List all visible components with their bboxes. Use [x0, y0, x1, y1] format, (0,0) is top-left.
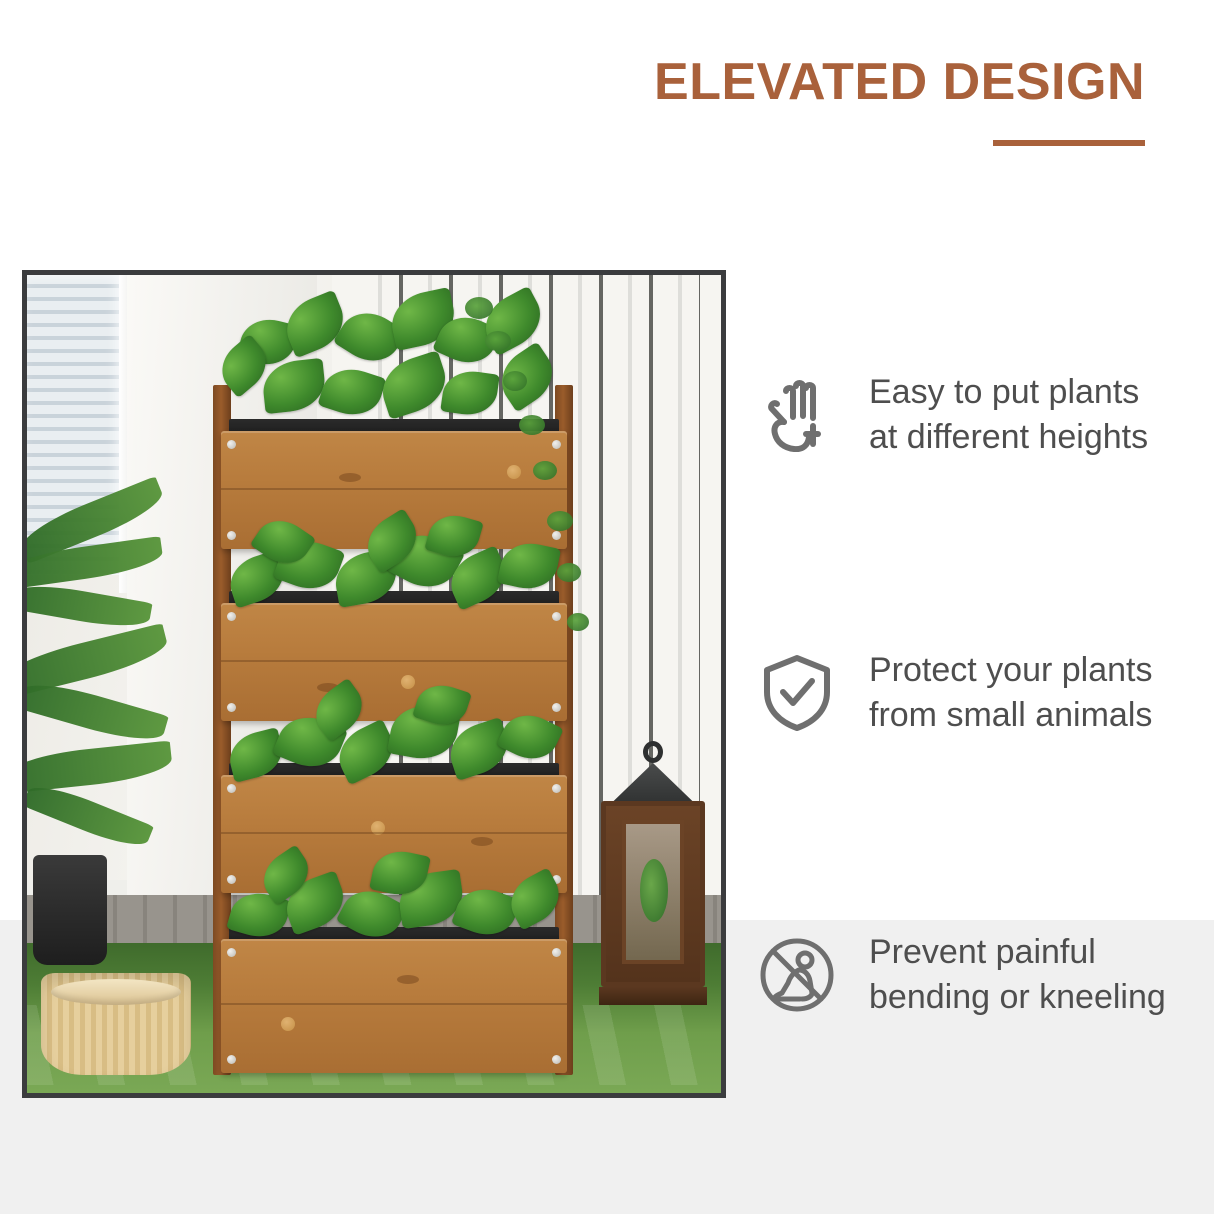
photo-scene	[27, 275, 721, 1093]
scene-woven-basket	[41, 973, 191, 1075]
feature-item-protect-plants: Protect your plants from small animals	[755, 648, 1152, 738]
no-bending-icon	[755, 930, 839, 1020]
scene-lantern	[593, 719, 713, 1019]
page-title: ELEVATED DESIGN	[654, 56, 1145, 108]
lantern-base	[599, 987, 707, 1005]
planter-box-tier-4	[221, 939, 567, 1073]
vertical-raised-planter	[203, 393, 583, 1073]
lantern-glass-pane	[622, 820, 684, 964]
lantern-body	[601, 801, 705, 987]
feature-label-protect-plants: Protect your plants from small animals	[869, 648, 1152, 738]
title-underline-rule	[993, 140, 1145, 146]
hand-icon	[755, 370, 839, 460]
scene-palm-plant	[27, 463, 227, 883]
product-photo	[22, 270, 726, 1098]
promo-page: ELEVATED DESIGN	[0, 0, 1214, 1214]
lantern-greenery	[640, 859, 668, 922]
headline-block: ELEVATED DESIGN	[654, 56, 1145, 146]
planter-box-tier-1	[221, 431, 567, 549]
feature-item-easy-heights: Easy to put plants at different heights	[755, 370, 1148, 460]
planter-box-tier-3	[221, 775, 567, 893]
planter-box-tier-2	[221, 603, 567, 721]
feature-label-easy-heights: Easy to put plants at different heights	[869, 370, 1148, 460]
shield-check-icon	[755, 648, 839, 738]
feature-label-no-bending: Prevent painful bending or kneeling	[869, 930, 1166, 1020]
basket-rim	[51, 979, 181, 1005]
lantern-handle-ring	[643, 741, 663, 763]
feature-item-no-bending: Prevent painful bending or kneeling	[755, 930, 1166, 1020]
